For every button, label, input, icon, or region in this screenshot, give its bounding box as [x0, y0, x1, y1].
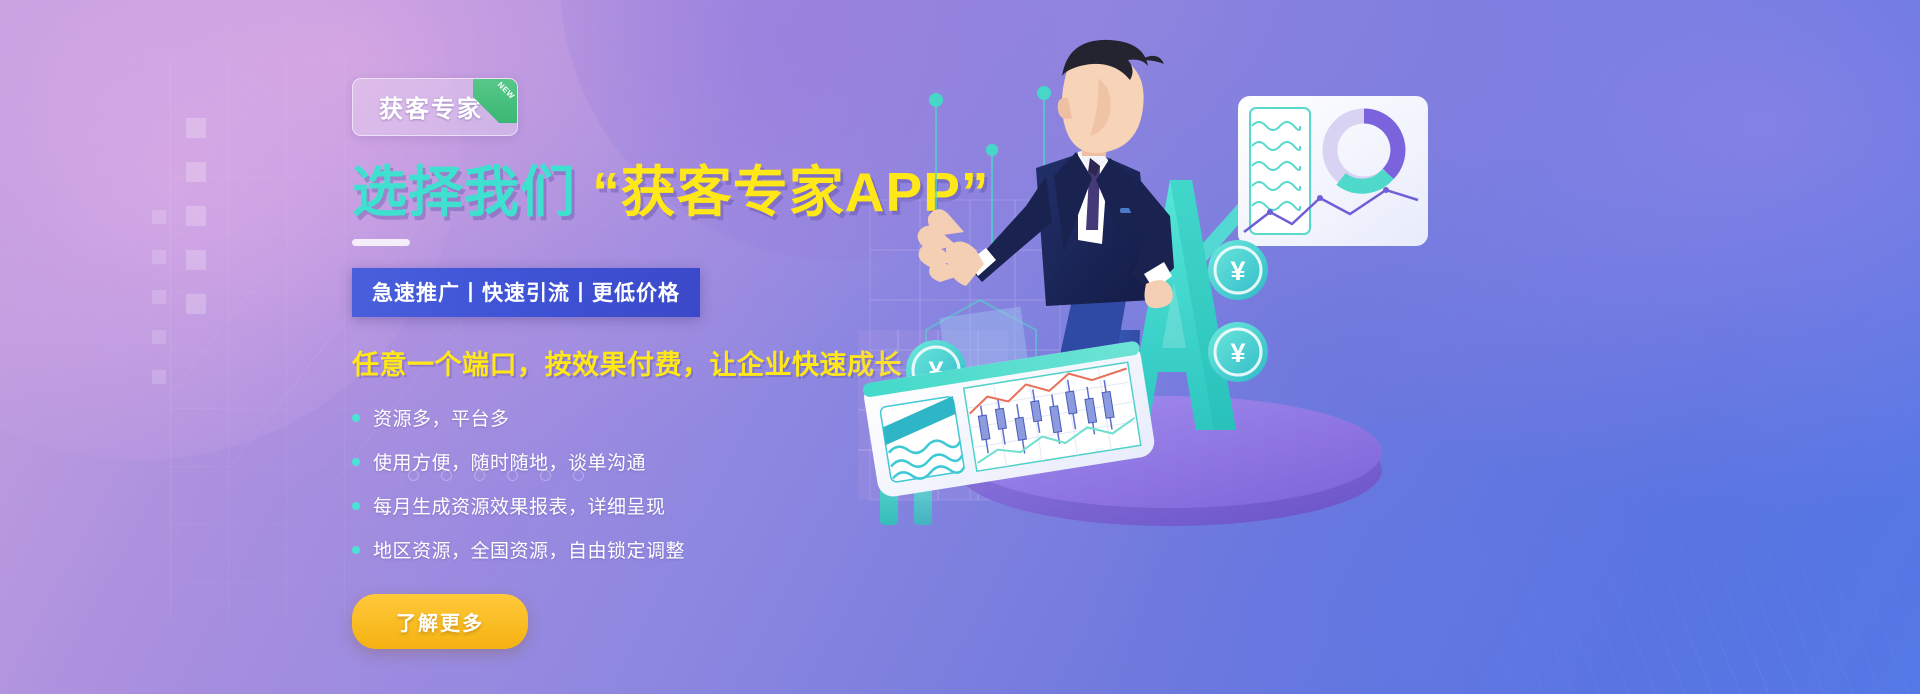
coin-yuan-icon-2: ¥	[1208, 240, 1268, 300]
title-divider	[352, 239, 410, 246]
list-item-label: 资源多，平台多	[373, 404, 510, 431]
new-ribbon-icon: NEW	[473, 79, 517, 123]
new-ribbon-label: NEW	[496, 80, 517, 101]
list-item-label: 地区资源，全国资源，自由锁定调整	[373, 536, 685, 563]
donut-chart-card	[1238, 96, 1428, 246]
coin-yuan-icon-3: ¥	[1208, 322, 1268, 382]
product-badge: 获客专家 NEW	[352, 78, 518, 136]
tagline: 任意一个端口，按效果付费，让企业快速成长	[352, 343, 912, 382]
headline-primary: 选择我们	[352, 161, 576, 223]
promo-banner: 获客专家 NEW 选择我们 “获客专家APP” 急速推广丨快速引流丨更低价格 任…	[0, 0, 1920, 694]
background-squares-column-1	[186, 118, 206, 338]
list-item: 地区资源，全国资源，自由锁定调整	[352, 536, 912, 563]
background-squares-column-2	[152, 210, 166, 410]
list-item-label: 使用方便，随时随地，谈单沟通	[373, 448, 646, 475]
list-item: 每月生成资源效果报表，详细呈现	[352, 492, 912, 519]
bullet-dot-icon	[352, 414, 360, 422]
hero-illustration: ¥ ¥ ¥	[840, 0, 1440, 694]
learn-more-button[interactable]: 了解更多	[352, 594, 528, 649]
list-item: 使用方便，随时随地，谈单沟通	[352, 448, 912, 475]
background-wave-lines	[1400, 454, 1920, 694]
banner-copy: 获客专家 NEW 选择我们 “获客专家APP” 急速推广丨快速引流丨更低价格 任…	[352, 78, 912, 649]
bullet-dot-icon	[352, 502, 360, 510]
feature-list: 资源多，平台多 使用方便，随时随地，谈单沟通 每月生成资源效果报表，详细呈现 地…	[352, 404, 912, 563]
coin-symbol: ¥	[1230, 338, 1245, 368]
bullet-dot-icon	[352, 458, 360, 466]
feature-ribbon: 急速推广丨快速引流丨更低价格	[352, 268, 700, 317]
page-title: 选择我们 “获客专家APP”	[352, 163, 912, 221]
list-item-label: 每月生成资源效果报表，详细呈现	[373, 492, 666, 519]
coin-symbol: ¥	[1230, 256, 1245, 286]
product-badge-label: 获客专家	[379, 96, 483, 123]
bullet-dot-icon	[352, 546, 360, 554]
list-item: 资源多，平台多	[352, 404, 912, 431]
